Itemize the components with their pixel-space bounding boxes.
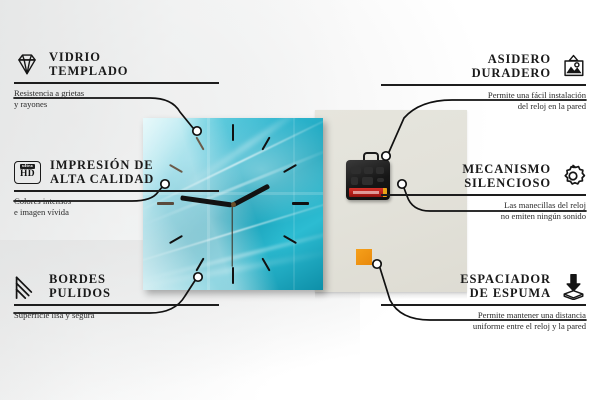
feature-title-line2: PULIDOS bbox=[49, 286, 111, 300]
feature-impresion-alta-calidad: ultra HD IMPRESIÓN DE ALTA CALIDAD Color… bbox=[14, 158, 219, 218]
foam-spacer-arrow-icon bbox=[560, 273, 586, 299]
feature-description: Las manecillas del reloj no emiten ningú… bbox=[381, 200, 586, 223]
feature-title-line2: DE ESPUMA bbox=[460, 286, 551, 300]
mechanism-detail bbox=[364, 167, 373, 174]
polished-edges-icon bbox=[14, 273, 40, 299]
clock-hub bbox=[231, 202, 236, 207]
mechanism-detail bbox=[351, 177, 358, 185]
second-hand bbox=[231, 205, 232, 267]
hour-tick-3 bbox=[292, 202, 309, 205]
feature-rule bbox=[14, 190, 219, 192]
feature-title-line2: TEMPLADO bbox=[49, 64, 128, 78]
picture-frame-hanger-icon bbox=[560, 53, 586, 79]
feature-desc-line1: Resistencia a grietas bbox=[14, 88, 219, 99]
infographic-canvas: VIDRIO TEMPLADO Resistencia a grietas y … bbox=[0, 0, 600, 400]
feature-title-line1: ESPACIADOR bbox=[460, 272, 551, 286]
feature-desc-line1: Colores intensos bbox=[14, 196, 219, 207]
feature-rule bbox=[381, 84, 586, 86]
hour-tick-6 bbox=[232, 267, 234, 284]
feature-desc-line1: Superficie lisa y segura bbox=[14, 310, 219, 321]
feature-rule bbox=[381, 194, 586, 196]
feature-desc-line2: no emiten ningún sonido bbox=[381, 211, 586, 222]
feature-title-line2: ALTA CALIDAD bbox=[50, 172, 154, 186]
feature-title-line2: DURADERO bbox=[472, 66, 551, 80]
feature-bordes-pulidos: BORDES PULIDOS Superficie lisa y segura bbox=[14, 272, 219, 321]
hour-tick-12 bbox=[232, 124, 234, 141]
mechanism-detail bbox=[362, 177, 373, 185]
feature-rule bbox=[381, 304, 586, 306]
battery-label-stripe bbox=[353, 191, 379, 194]
foam-spacer bbox=[356, 249, 372, 265]
feature-title-line1: VIDRIO bbox=[49, 50, 128, 64]
feature-title-line1: ASIDERO bbox=[472, 52, 551, 66]
feature-desc-line1: Permite una fácil instalación bbox=[381, 90, 586, 101]
feature-rule bbox=[14, 304, 219, 306]
feature-desc-line1: Permite mantener una distancia bbox=[381, 310, 586, 321]
feature-description: Permite una fácil instalación del reloj … bbox=[381, 90, 586, 113]
feature-title-line1: IMPRESIÓN DE bbox=[50, 158, 154, 172]
feature-description: Permite mantener una distancia uniforme … bbox=[381, 310, 586, 333]
feature-mecanismo-silencioso: MECANISMO SILENCIOSO Las manecillas del … bbox=[381, 162, 586, 222]
feature-title-line2: SILENCIOSO bbox=[462, 176, 551, 190]
feature-desc-line2: y rayones bbox=[14, 99, 219, 110]
feature-title-line1: BORDES bbox=[49, 272, 111, 286]
mechanism-detail bbox=[351, 167, 361, 174]
feature-description: Resistencia a grietas y rayones bbox=[14, 88, 219, 111]
feature-desc-line2: del reloj en la pared bbox=[381, 101, 586, 112]
feature-description: Superficie lisa y segura bbox=[14, 310, 219, 321]
feature-espaciador-de-espuma: ESPACIADOR DE ESPUMA Permite mantener un… bbox=[381, 272, 586, 332]
gear-icon bbox=[560, 163, 586, 189]
feature-desc-line1: Las manecillas del reloj bbox=[381, 200, 586, 211]
feature-description: Colores intensos e imagen vívida bbox=[14, 196, 219, 219]
feature-title-line1: MECANISMO bbox=[462, 162, 551, 176]
feature-asidero-duradero: ASIDERO DURADERO Permite una fácil insta… bbox=[381, 52, 586, 112]
feature-rule bbox=[14, 82, 219, 84]
feature-desc-line2: uniforme entre el reloj y la pared bbox=[381, 321, 586, 332]
ultra-hd-icon: ultra HD bbox=[14, 161, 41, 184]
feature-desc-line2: e imagen vívida bbox=[14, 207, 219, 218]
diamond-icon bbox=[14, 51, 40, 77]
feature-vidrio-templado: VIDRIO TEMPLADO Resistencia a grietas y … bbox=[14, 50, 219, 110]
ultra-hd-icon-bottom: HD bbox=[20, 170, 35, 180]
